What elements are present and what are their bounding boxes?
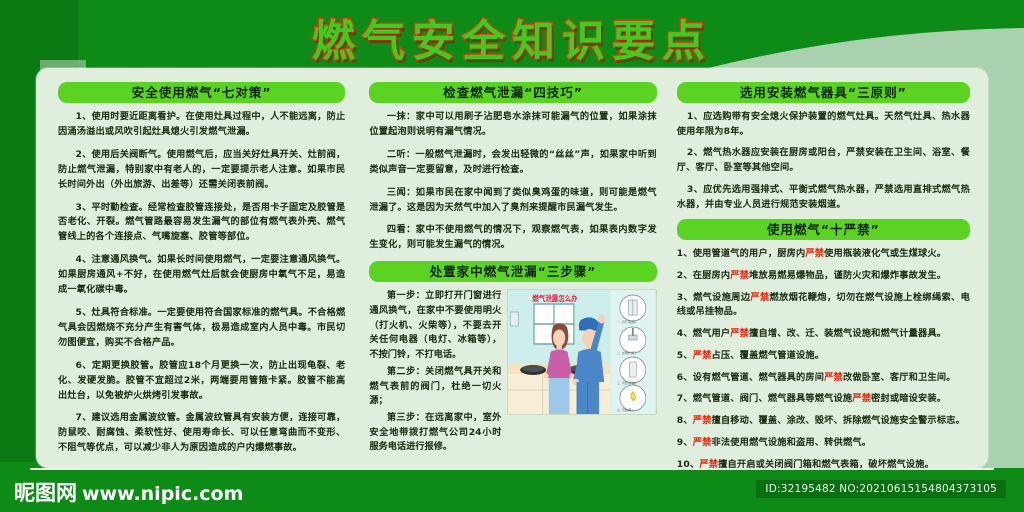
prohibition-list: 1、使用管道气的用户，厨房内严禁使用瓶装液化气或生煤球火。2、在厨房内严禁堆放易… [677,247,970,472]
brand-url: www.nipic.com [82,483,243,505]
footer-bar: 昵图网www.nipic.com ID:32195482 NO:20210615… [0,468,1024,512]
illustration-svg: 一、打开门窗通风 二、关闭燃气阀门 三、不要开关电器 四、不要动明火 [508,290,655,414]
svg-text:一、打开门窗通风: 一、打开门窗通风 [618,320,637,324]
prohibition-number: 1、 [677,248,693,259]
prohibition-text-after: 密封或暗设安装。 [871,393,946,404]
step-paragraph: 第二步：关闭燃气具开关和燃气表前的阀门，杜绝一切火源； [369,365,501,409]
prohibition-text-before: 燃气设施周边 [693,292,750,303]
svg-text:二、关闭燃气阀门: 二、关闭燃气阀门 [618,351,637,355]
prohibition-item: 9、严禁非法使用燃气设施和盗用、转供燃气。 [677,436,970,451]
middle-paragraph: 二听：一般燃气泄漏时，会发出轻微的“丝丝”声，如果家中听到类似声音一定要留意，及… [369,148,656,178]
prohibition-item: 6、设有燃气管道、燃气器具的房间严禁改做卧室、客厅和卫生间。 [677,371,970,386]
left-paragraph: 2、使用后关阀断气。使用燃气后，应当关好灶具开关、灶前阀，防止燃气泄漏，特别家中… [58,148,345,193]
prohibition-item: 2、在厨房内严禁堆放易燃易爆物品，谨防火灾和爆炸事故发生。 [677,269,970,284]
prohibition-text-before: 设有燃气管道、燃气器具的房间 [693,372,824,383]
footer-divider [30,468,994,470]
column-right: 选用安装燃气器具“三原则” 1、应选购带有安全熄火保护装置的燃气灶具。天然气灶具… [669,82,978,460]
prohibition-text-before: 在厨房内 [693,270,731,281]
prohibition-keyword: 严禁 [852,393,871,404]
prohibition-number: 3、 [677,292,693,303]
prohibition-text-after: 使用瓶装液化气或生煤球火。 [824,248,946,259]
gas-leak-illustration: 一、打开门窗通风 二、关闭燃气阀门 三、不要开关电器 四、不要动明火 [507,289,656,415]
left-paragraph: 6、定期更换胶管。胶管应18个月更换一次，防止出现龟裂、老化、发硬发脆。胶管不宜… [58,359,345,404]
prohibition-number: 7、 [677,393,693,404]
left-paragraph: 4、注意通风换气。如果长时间使用燃气，一定要注意通风换气。如果厨房通风+不好，在… [58,253,345,298]
column-middle: 检查燃气泄漏“四技巧” 一抹：家中可以用刷子沾肥皂水涂抹可能漏气的位置，如果涂抹… [357,82,668,460]
section-heading-three-principles: 选用安装燃气器具“三原则” [677,82,970,103]
section-heading-seven-measures: 安全使用燃气“七对策” [58,82,345,103]
three-steps-text: 第一步：立即打开门窗进行通风换气，在家中不要使用明火（打火机、火柴等），不要去开… [369,289,501,457]
prohibition-item: 8、严禁擅自移动、覆盖、涂改、毁坏、拆除燃气设施安全警示标志。 [677,414,970,429]
prohibition-number: 8、 [677,415,693,426]
prohibition-number: 9、 [677,437,693,448]
column-left: 安全使用燃气“七对策” 1、使用时要近距离看护。在使用灶具过程中，人不能远离，防… [46,82,357,460]
prohibition-text-after: 非法使用燃气设施和盗用、转供燃气。 [712,437,872,448]
prohibition-item: 7、燃气管道、阀门、燃气器具等燃气设施严禁密封或暗设安装。 [677,392,970,407]
prohibition-keyword: 严禁 [693,350,712,361]
middle-paragraph: 三闻：如果市民在家中闻到了类似臭鸡蛋的味道，则可能是燃气泄漏了。这是因为天然气中… [369,186,656,216]
svg-text:三、不要开关电器: 三、不要开关电器 [618,381,637,385]
prohibition-number: 5、 [677,350,693,361]
section-heading-three-steps: 处置家中燃气泄漏“三步骤” [369,261,656,282]
svg-text:四、不要动明火: 四、不要动明火 [618,408,635,412]
site-brand: 昵图网www.nipic.com [14,477,243,507]
section-heading-ten-prohibitions: 使用燃气“十严禁” [677,219,970,240]
prohibition-keyword: 严禁 [805,248,824,259]
prohibition-item: 4、燃气用户严禁擅自增、改、迁、装燃气设施和燃气计量器具。 [677,327,970,342]
middle-paragraph: 一抹：家中可以用刷子沾肥皂水涂抹可能漏气的位置，如果涂抹位置起泡则说明有漏气情况… [369,110,656,140]
step-paragraph: 第一步：立即打开门窗进行通风换气，在家中不要使用明火（打火机、火柴等），不要去开… [369,289,501,363]
prohibition-number: 2、 [677,270,693,281]
left-paragraph: 1、使用时要近距离看护。在使用灶具过程中，人不能远离，防止因涌汤溢出或风吹引起灶… [58,110,345,140]
principle-item: 3、应优先选用强排式、平衡式燃气热水器，严禁选用直排式燃气热水器，并由专业人员进… [677,183,970,212]
illustration-caption: 燃气泄露怎么办 [532,294,578,304]
principle-item: 1、应选购带有安全熄火保护装置的燃气灶具。天然气灶具、热水器使用年限为8年。 [677,110,970,139]
prohibition-text-after: 堆放易燃易爆物品，谨防火灾和爆炸事故发生。 [749,270,946,281]
middle-paragraph: 四看：家中不使用燃气的情况下，观察燃气表，如果表内数字发生变化，则可能发生漏气的… [369,223,656,253]
brand-name-cn: 昵图网 [14,481,77,505]
columns-container: 安全使用燃气“七对策” 1、使用时要近距离看护。在使用灶具过程中，人不能远离，防… [36,68,988,468]
left-paragraph: 7、建议选用金属波纹管。金属波纹管具有安装方便，连接可靠，防鼠咬、耐腐蚀、柔软性… [58,411,345,456]
prohibition-keyword: 严禁 [824,372,843,383]
section-heading-four-techniques: 检查燃气泄漏“四技巧” [369,82,656,103]
principle-item: 2、燃气热水器应安装在厨房或阳台，严禁安装在卫生间、浴室、餐厅、客厅、卧室等其他… [677,146,970,175]
page-title: 燃气安全知识要点 [312,16,712,68]
prohibition-text-after: 改做卧室、客厅和卫生间。 [843,372,956,383]
prohibition-text-before: 燃气管道、阀门、燃气器具等燃气设施 [693,393,853,404]
prohibition-keyword: 严禁 [730,270,749,281]
prohibition-item: 5、严禁占压、覆盖燃气管道设施。 [677,349,970,364]
prohibition-item: 1、使用管道气的用户，厨房内严禁使用瓶装液化气或生煤球火。 [677,247,970,262]
prohibition-keyword: 严禁 [693,415,712,426]
prohibition-text-before: 燃气用户 [693,328,731,339]
prohibition-keyword: 严禁 [750,292,769,303]
left-paragraph: 5、灶具符合标准。一定要使用符合国家标准的燃气具。不合格燃气具会因燃烧不充分产生… [58,306,345,351]
prohibition-item: 3、燃气设施周边严禁燃放烟花鞭炮，切勿在燃气设施上栓绑绳索、电线或吊挂物品。 [677,291,970,320]
prohibition-number: 6、 [677,372,693,383]
poster-title-wrap: 燃气安全知识要点 [0,16,1024,68]
prohibition-text-after: 擅自移动、覆盖、涂改、毁坏、拆除燃气设施安全警示标志。 [712,415,965,426]
prohibition-keyword: 严禁 [730,328,749,339]
prohibition-number: 4、 [677,328,693,339]
prohibition-keyword: 严禁 [693,437,712,448]
step-paragraph: 第三步：在远离家中，室外安全地带拨打燃气公司24小时服务电话进行报修。 [369,411,501,455]
image-id-badge: ID:32195482 NO:20210615154804373105 [756,480,1006,498]
prohibition-text-before: 使用管道气的用户，厨房内 [693,248,806,259]
prohibition-text-after: 擅自增、改、迁、装燃气设施和燃气计量器具。 [749,328,946,339]
left-paragraph: 3、平时勤检查。经常检查胶管连接处，是否用卡子固定及胶管是否老化、开裂。燃气管路… [58,201,345,246]
prohibition-text-after: 占压、覆盖燃气管道设施。 [712,350,825,361]
three-steps-block: 第一步：立即打开门窗进行通风换气，在家中不要使用明火（打火机、火柴等），不要去开… [369,289,656,457]
